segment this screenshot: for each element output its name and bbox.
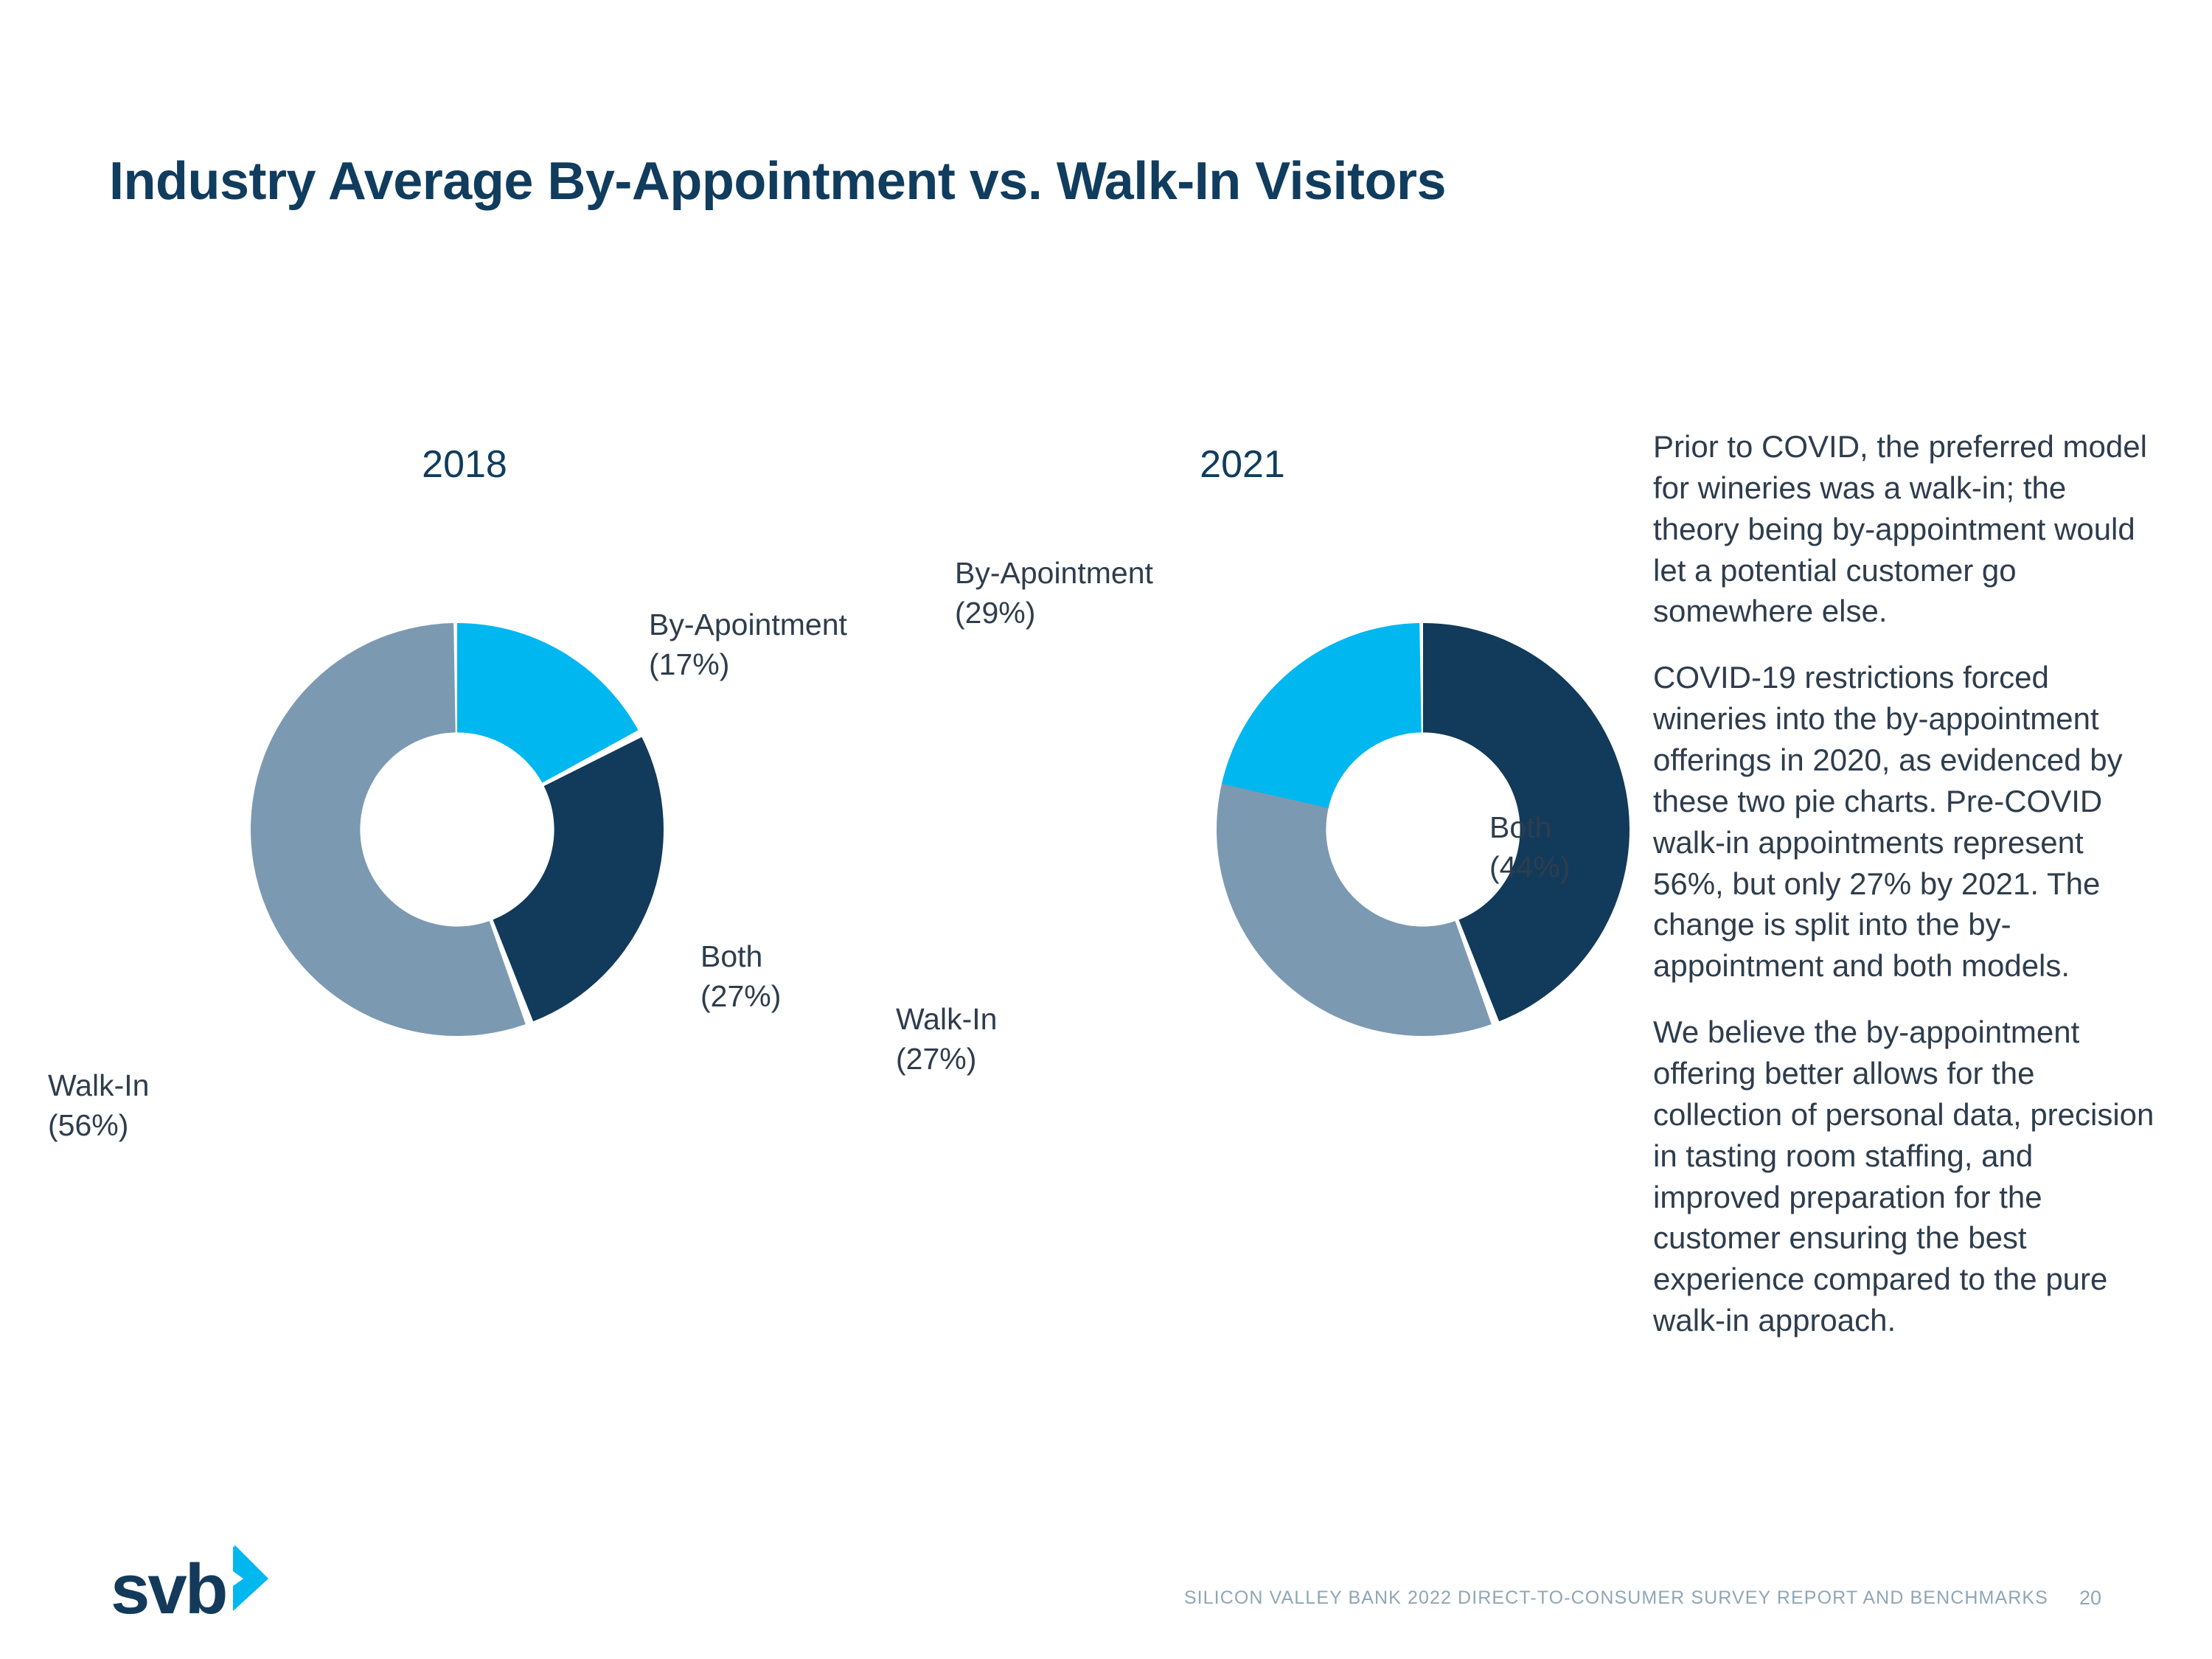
slice-label-name: By-Apointment — [649, 608, 847, 641]
slice-label-pct: (29%) — [955, 593, 1153, 633]
slice-label-2021-both: Both (44%) — [1489, 807, 1570, 887]
donut-chart-2018 — [184, 557, 730, 1102]
narrative-paragraph-2: COVID-19 restrictions forced wineries in… — [1653, 657, 2154, 987]
page-number: 20 — [2079, 1587, 2101, 1610]
slice-label-pct: (27%) — [896, 1039, 997, 1079]
slice-label-2018-appointment: By-Apointment (17%) — [649, 605, 847, 684]
donut-svg-2018 — [184, 557, 730, 1102]
footer: SILICON VALLEY BANK 2022 DIRECT-TO-CONSU… — [1184, 1587, 2101, 1610]
slice-label-2018-both: Both (27%) — [700, 936, 781, 1016]
narrative-column: Prior to COVID, the preferred model for … — [1653, 426, 2154, 1341]
svb-logo: svb — [111, 1545, 276, 1621]
footer-source-note: SILICON VALLEY BANK 2022 DIRECT-TO-CONSU… — [1184, 1587, 2048, 1609]
narrative-paragraph-1: Prior to COVID, the preferred model for … — [1653, 426, 2154, 632]
donut-svg-2021 — [1150, 557, 1696, 1102]
slice-label-pct: (27%) — [700, 976, 781, 1016]
slice-2018-both — [493, 737, 663, 1022]
slice-label-name: Both — [700, 939, 762, 973]
slice-2021-walkin — [1217, 778, 1492, 1036]
slice-label-pct: (56%) — [48, 1105, 149, 1145]
slice-label-2021-appointment: By-Apointment (29%) — [955, 553, 1153, 633]
chevron-right-icon — [230, 1545, 276, 1616]
slice-label-pct: (17%) — [649, 644, 847, 684]
slice-label-name: Walk-In — [48, 1068, 149, 1102]
slice-label-name: Walk-In — [896, 1002, 997, 1036]
slice-label-2018-walkin: Walk-In (56%) — [48, 1065, 149, 1145]
slice-2021-appointment — [1222, 623, 1422, 808]
page-title: Industry Average By-Appointment vs. Walk… — [109, 151, 1446, 212]
chart-title-2021: 2021 — [984, 442, 1500, 487]
slice-label-pct: (44%) — [1489, 847, 1570, 887]
chart-title-2018: 2018 — [206, 442, 723, 487]
slice-label-name: Both — [1489, 810, 1551, 844]
donut-chart-2021 — [1150, 557, 1696, 1102]
slice-label-2021-walkin: Walk-In (27%) — [896, 999, 997, 1079]
narrative-paragraph-3: We believe the by-appointment offering b… — [1653, 1012, 2154, 1341]
svb-logo-text: svb — [111, 1559, 226, 1621]
slice-label-name: By-Apointment — [955, 556, 1153, 590]
